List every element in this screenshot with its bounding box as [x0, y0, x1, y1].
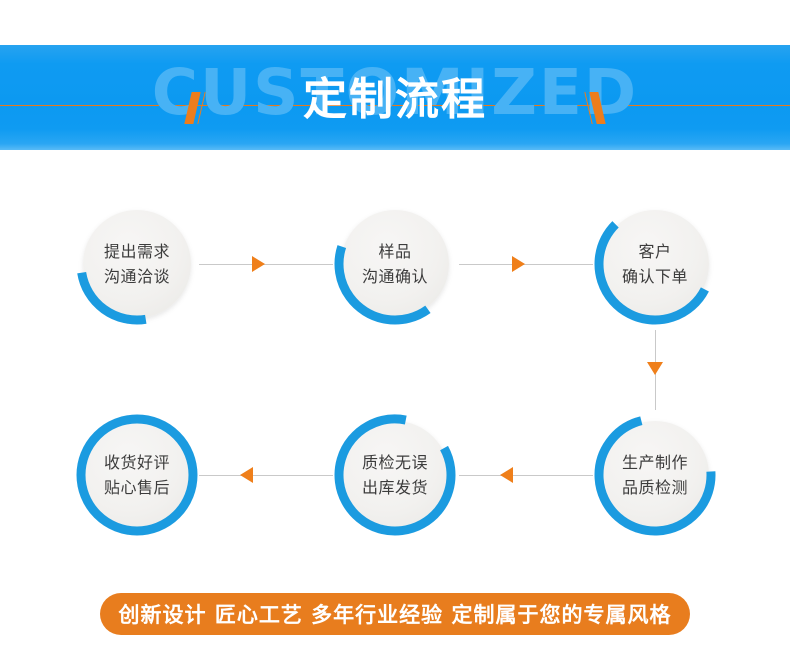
step-3-line-1: 客户 [638, 239, 671, 264]
step-5-label: 质检无误 出库发货 [333, 413, 457, 537]
step-2-label: 样品 沟通确认 [333, 202, 457, 326]
process-step-5[interactable]: 质检无误 出库发货 [333, 413, 457, 537]
footer-slogan-text: 创新设计 匠心工艺 多年行业经验 定制属于您的专属风格 [119, 599, 672, 629]
step-1-label: 提出需求 沟通洽谈 [75, 202, 199, 326]
connector-step5-step6 [199, 475, 333, 476]
process-step-4[interactable]: 生产制作 品质检测 [593, 413, 717, 537]
step-4-label: 生产制作 品质检测 [593, 413, 717, 537]
step-5-line-1: 质检无误 [362, 450, 428, 475]
arrow-step4-step5-icon [500, 467, 513, 483]
step-3-line-2: 确认下单 [622, 264, 688, 289]
step-4-line-1: 生产制作 [622, 450, 688, 475]
header-content: CUSTOMIZED 定制流程 [0, 45, 790, 150]
connector-step2-step3 [459, 264, 593, 265]
step-6-line-2: 贴心售后 [104, 475, 170, 500]
step-2-line-2: 沟通确认 [362, 264, 428, 289]
page-header-banner: CUSTOMIZED 定制流程 [0, 45, 790, 150]
process-step-3[interactable]: 客户 确认下单 [593, 202, 717, 326]
step-4-line-2: 品质检测 [622, 475, 688, 500]
connector-step1-step2 [199, 264, 333, 265]
step-3-label: 客户 确认下单 [593, 202, 717, 326]
connector-step4-step5 [459, 475, 593, 476]
step-1-line-2: 沟通洽谈 [104, 264, 170, 289]
step-6-label: 收货好评 贴心售后 [75, 413, 199, 537]
arrow-step1-step2-icon [252, 256, 265, 272]
page-title: 定制流程 [0, 69, 790, 131]
footer-slogan-banner: 创新设计 匠心工艺 多年行业经验 定制属于您的专属风格 [100, 593, 690, 635]
step-6-line-1: 收货好评 [104, 450, 170, 475]
process-flow-diagram: 提出需求 沟通洽谈 样品 沟通确认 客户 确认下单 生产制作 品 [0, 150, 790, 580]
arrow-step5-step6-icon [240, 467, 253, 483]
process-step-1[interactable]: 提出需求 沟通洽谈 [75, 202, 199, 326]
step-2-line-1: 样品 [378, 239, 411, 264]
step-1-line-1: 提出需求 [104, 239, 170, 264]
arrow-step3-step4-icon [647, 362, 663, 375]
process-step-2[interactable]: 样品 沟通确认 [333, 202, 457, 326]
process-step-6[interactable]: 收货好评 贴心售后 [75, 413, 199, 537]
step-5-line-2: 出库发货 [362, 475, 428, 500]
arrow-step2-step3-icon [512, 256, 525, 272]
